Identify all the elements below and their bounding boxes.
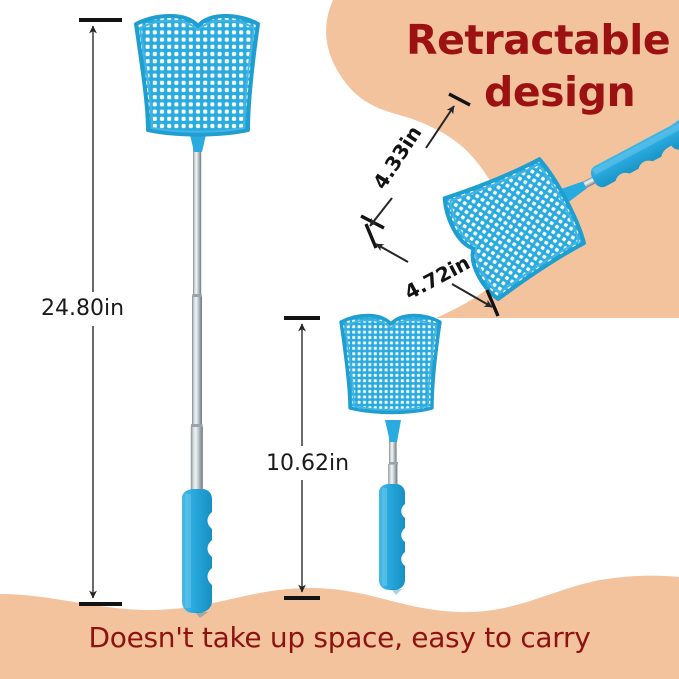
rod-segment-1: [193, 140, 201, 298]
rod-segment-2: [192, 296, 202, 428]
handle-grip-retracted[interactable]: [379, 484, 405, 595]
rod-joint-1: [192, 294, 202, 297]
handle-grip-extended[interactable]: [182, 489, 212, 618]
swatter-head-retracted[interactable]: [341, 316, 440, 413]
bottom-caption: Doesn't take up space, easy to carry: [0, 621, 679, 654]
heading-line-1: Retractable: [406, 16, 670, 64]
grip-highlight-extended: [185, 494, 191, 608]
rod-joint-r1: [389, 462, 398, 465]
swatter-head-extended[interactable]: [136, 16, 258, 135]
dimension-label-retracted-length: 10.62in: [266, 451, 349, 476]
infographic-canvas: Retractable design 24.80in 10.62in 4.33i…: [0, 0, 679, 679]
rod-joint-2: [191, 424, 203, 427]
dimension-label-extended-length: 24.80in: [41, 296, 124, 321]
heading-line-2: design: [484, 68, 635, 116]
grip-highlight-retracted: [382, 488, 387, 586]
